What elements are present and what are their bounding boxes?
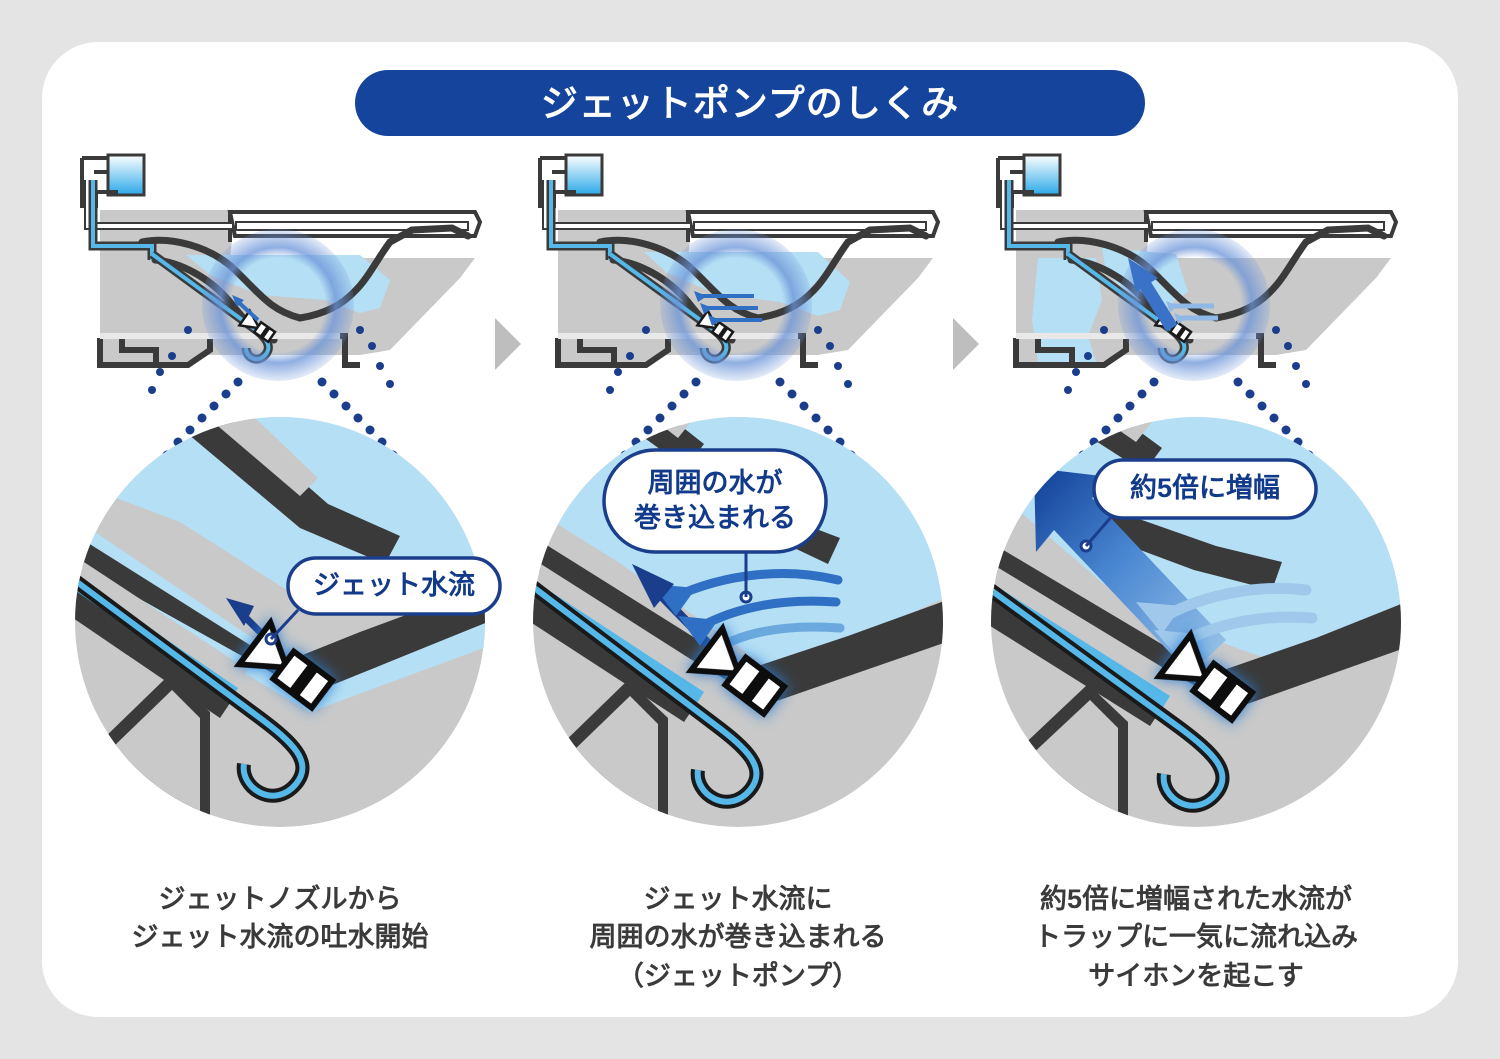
- toilet-diagram-2: [518, 150, 958, 400]
- caption-line: 周囲の水が巻き込まれる: [518, 918, 958, 956]
- callout-line: ジェット水流: [313, 571, 475, 600]
- callout-line: 約5倍に増幅: [1130, 474, 1280, 503]
- page-title-pill: ジェットポンプのしくみ: [355, 70, 1145, 136]
- magnified-view-2: 周囲の水が 巻き込まれる: [518, 412, 958, 862]
- step-panel-1: ジェット水流 ジェットノズルから ジェット水流の吐水開始: [60, 150, 500, 1030]
- magnifier-highlight: [660, 229, 812, 381]
- callout-line: 周囲の水が: [648, 466, 783, 501]
- caption-line: ジェット水流に: [518, 880, 958, 918]
- callout-line: 巻き込まれる: [634, 501, 796, 536]
- step-caption-2: ジェット水流に 周囲の水が巻き込まれる （ジェットポンプ）: [518, 880, 958, 995]
- step-panel-2: 周囲の水が 巻き込まれる ジェット水流に 周囲の水が巻き込まれる （ジェットポン…: [518, 150, 958, 1030]
- infographic-card: ジェットポンプのしくみ: [42, 42, 1458, 1017]
- caption-line: （ジェットポンプ）: [518, 957, 958, 995]
- steps-container: ジェット水流 ジェットノズルから ジェット水流の吐水開始: [42, 150, 1458, 1030]
- step-caption-3: 約5倍に増幅された水流が トラップに一気に流れ込み サイホンを起こす: [976, 880, 1416, 995]
- water-tank: [108, 155, 144, 195]
- caption-line: サイホンを起こす: [976, 957, 1416, 995]
- caption-line: ジェット水流の吐水開始: [60, 918, 500, 956]
- caption-line: ジェットノズルから: [60, 880, 500, 918]
- water-tank: [566, 155, 602, 195]
- magnified-view-1: ジェット水流: [60, 412, 500, 862]
- toilet-diagram-1: [60, 150, 500, 400]
- step-caption-1: ジェットノズルから ジェット水流の吐水開始: [60, 880, 500, 957]
- magnifier-highlight: [202, 229, 354, 381]
- caption-line: 約5倍に増幅された水流が: [976, 880, 1416, 918]
- step-panel-3: 約5倍に増幅 約5倍に増幅された水流が トラップに一気に流れ込み サイホンを起こ…: [976, 150, 1416, 1030]
- page-title: ジェットポンプのしくみ: [541, 85, 959, 122]
- water-tank: [1024, 155, 1060, 195]
- toilet-diagram-3: [976, 150, 1416, 400]
- caption-line: トラップに一気に流れ込み: [976, 918, 1416, 956]
- magnified-view-3: 約5倍に増幅: [976, 412, 1416, 862]
